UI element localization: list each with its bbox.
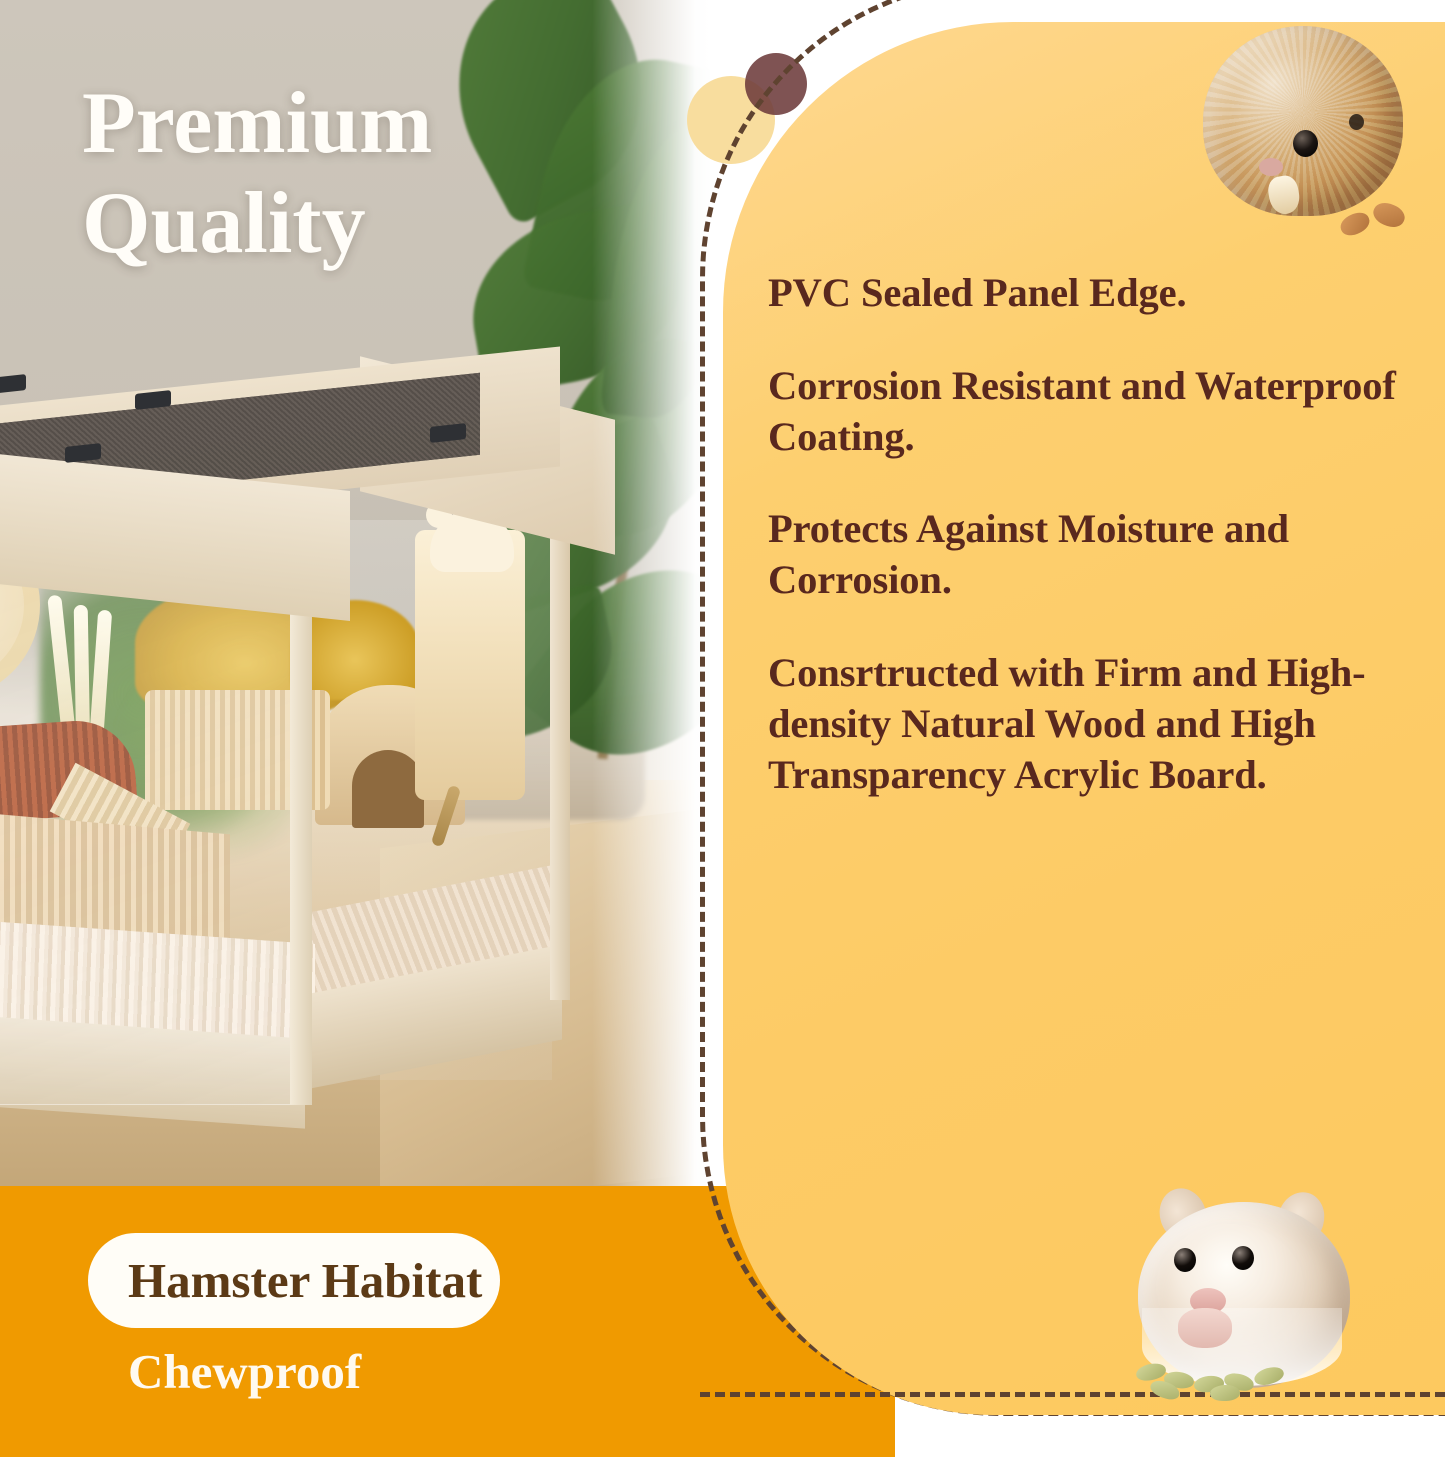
food-pellet — [1337, 209, 1372, 239]
decorative-circle-maroon — [745, 53, 807, 115]
hamster-cage — [0, 370, 620, 1170]
hamster-paws — [1178, 1308, 1232, 1348]
hamster-eye — [1174, 1248, 1196, 1272]
pumpkin-seed — [1135, 1361, 1168, 1383]
white-hamster-icon — [1128, 1186, 1378, 1408]
product-name-label: Hamster Habitat — [128, 1243, 688, 1319]
infographic-canvas: Premium Quality PVC Sealed Panel Edge. C… — [0, 0, 1445, 1457]
page-title-line-1: Premium — [82, 75, 432, 172]
feature-item: Consrtructed with Firm and High-density … — [768, 648, 1428, 800]
feature-item: PVC Sealed Panel Edge. — [768, 268, 1428, 319]
feature-item: Protects Against Moisture and Corrosion. — [768, 504, 1428, 606]
banner-subtitle: Chewproof — [128, 1340, 648, 1404]
pumpkin-seed — [1210, 1384, 1241, 1401]
hamster-nose — [1259, 158, 1283, 176]
hamster-fur-texture — [1203, 26, 1403, 216]
cage-lid-hinge — [0, 374, 26, 394]
golden-hamster-icon — [1197, 18, 1415, 243]
cage-acrylic-front-panel — [0, 545, 295, 1105]
hamster-eye — [1232, 1246, 1254, 1270]
food-pellet — [1370, 198, 1408, 231]
cage-hut-entrance — [352, 750, 424, 828]
feature-item: Corrosion Resistant and Waterproof Coati… — [768, 361, 1428, 463]
page-title: Premium Quality — [82, 74, 682, 275]
feature-list: PVC Sealed Panel Edge. Corrosion Resista… — [768, 268, 1428, 801]
page-title-line-2: Quality — [82, 174, 682, 274]
hamster-eye — [1293, 130, 1318, 157]
hamster-eye — [1349, 114, 1364, 130]
